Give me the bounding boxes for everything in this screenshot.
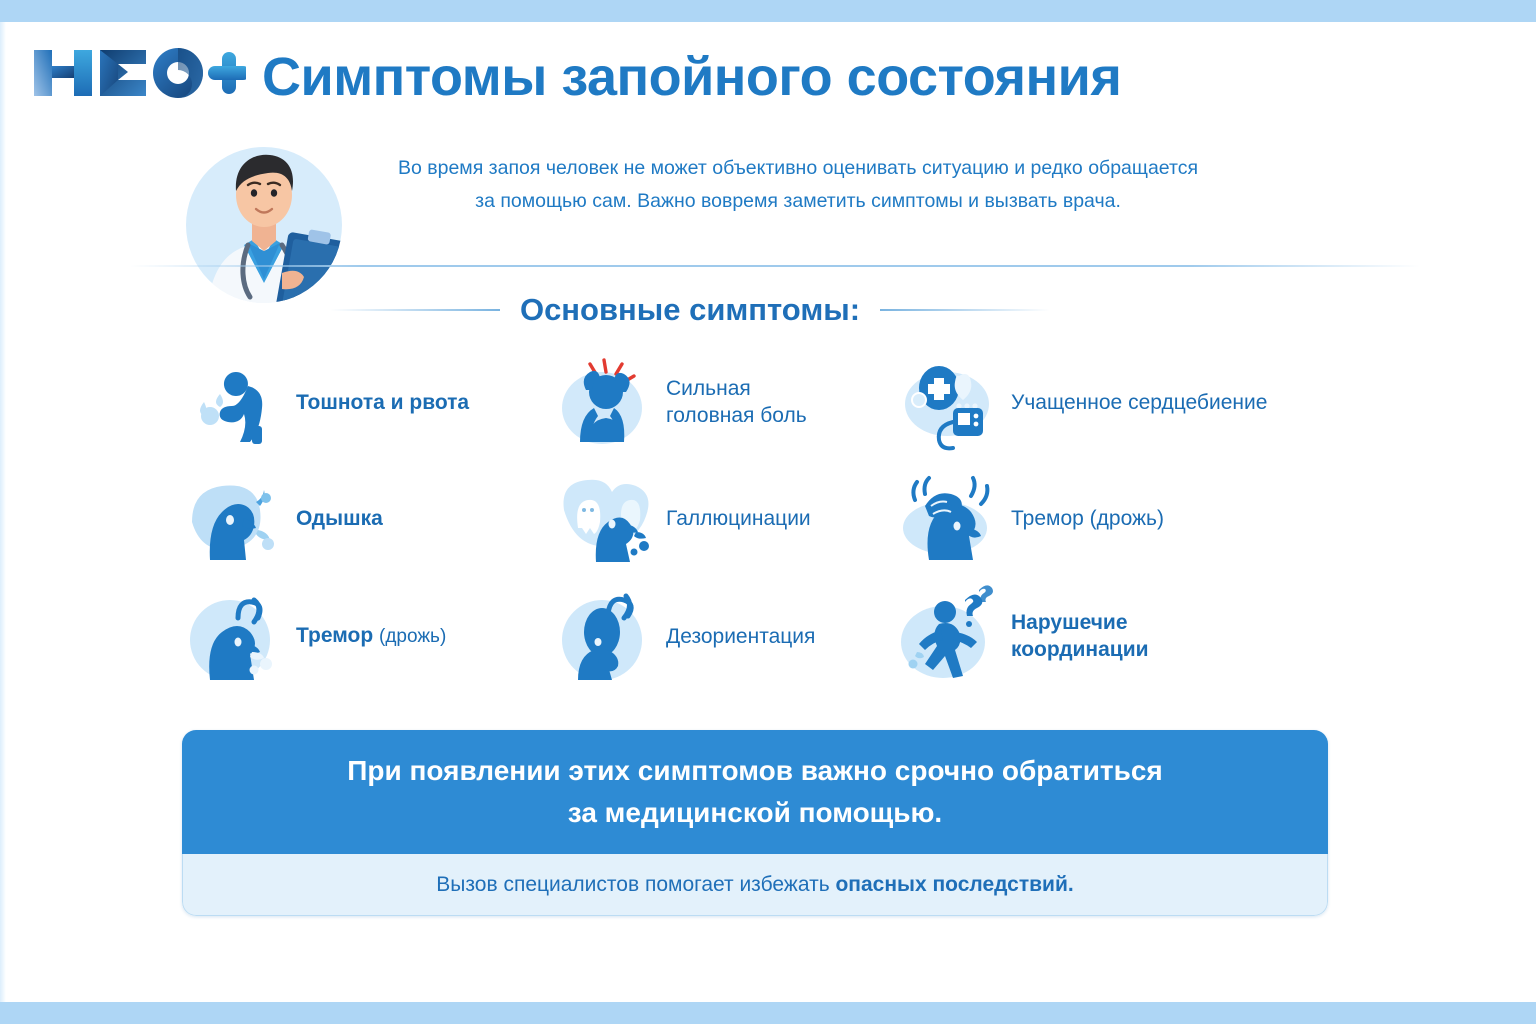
heading-rule-left bbox=[330, 309, 500, 311]
hallucination-ghost-icon bbox=[550, 466, 654, 570]
symptom-grid: Тошнота и рвота Сильная bbox=[180, 344, 1360, 696]
shortness-of-breath-icon bbox=[180, 466, 284, 570]
heading-label: Основные симптомы: bbox=[520, 292, 860, 328]
bottom-accent-bar bbox=[0, 1002, 1536, 1024]
symptom-label: Нарушечие координации bbox=[1011, 609, 1149, 663]
neo-plus-logo bbox=[30, 44, 246, 102]
left-edge-strip bbox=[0, 22, 6, 1002]
symptom-label: Тремор (дрожь) bbox=[296, 622, 446, 650]
call-to-action-banner: При появлении этих симптомов важно срочн… bbox=[182, 730, 1328, 916]
symptom-label-line-1: Нарушечие bbox=[1011, 609, 1149, 636]
symptom-item: Учащенное сердцебиение bbox=[895, 344, 1360, 460]
symptom-label-main: Тремор bbox=[296, 624, 379, 647]
sweating-tremor-icon bbox=[180, 584, 284, 688]
intro-paragraph: Во время запоя человек не может объектив… bbox=[318, 152, 1278, 218]
symptom-label-line-2: головная боль bbox=[666, 402, 807, 429]
banner-footer-bold: опасных последствий. bbox=[835, 873, 1073, 896]
symptom-label: Сильная головная боль bbox=[666, 375, 807, 429]
symptom-label: Тошнота и рвота bbox=[296, 389, 469, 416]
symptom-item: Тремор (дрожь) bbox=[895, 460, 1360, 576]
banner-line-1: При появлении этих симптомов важно срочн… bbox=[347, 755, 1163, 786]
banner-primary: При появлении этих симптомов важно срочн… bbox=[182, 730, 1328, 854]
symptom-item: Сильная головная боль bbox=[550, 344, 895, 460]
symptom-item: Нарушечие координации bbox=[895, 576, 1360, 696]
section-divider bbox=[130, 265, 1420, 267]
symptom-label-line-2: координации bbox=[1011, 636, 1149, 663]
symptom-label: Учащенное сердцебиение bbox=[1011, 389, 1267, 416]
symptom-label: Галлюцинации bbox=[666, 505, 811, 532]
symptom-label: Тремор (дрожь) bbox=[1011, 505, 1164, 532]
vomiting-icon bbox=[180, 350, 284, 454]
banner-footer: Вызов специалистов помогает избежать опа… bbox=[182, 854, 1328, 916]
symptom-item: Дезориентация bbox=[550, 576, 895, 696]
top-accent-bar bbox=[0, 0, 1536, 22]
page-title: Симптомы запойного состояния bbox=[262, 46, 1121, 108]
coordination-loss-icon bbox=[895, 584, 999, 688]
headache-icon bbox=[550, 350, 654, 454]
blood-pressure-monitor-icon bbox=[895, 350, 999, 454]
symptom-item: Тошнота и рвота bbox=[180, 344, 550, 460]
intro-line-2: за помощью сам. Важно вовремя заметить с… bbox=[318, 185, 1278, 218]
symptom-item: Тремор (дрожь) bbox=[180, 576, 550, 696]
banner-text: При появлении этих симптомов важно срочн… bbox=[347, 750, 1163, 834]
banner-line-2: за медицинской помощью. bbox=[568, 797, 942, 828]
head-tremor-icon bbox=[895, 466, 999, 570]
symptom-label-sub: (дрожь) bbox=[379, 626, 446, 647]
symptom-item: Галлюцинации bbox=[550, 460, 895, 576]
symptom-label-line-1: Сильная bbox=[666, 375, 807, 402]
symptom-label: Одышка bbox=[296, 505, 383, 532]
disorientation-icon bbox=[550, 584, 654, 688]
symptom-item: Одышка bbox=[180, 460, 550, 576]
symptom-label: Дезориентация bbox=[666, 623, 815, 650]
heading-rule-right bbox=[880, 309, 1050, 311]
banner-footer-text: Вызов специалистов помогает избежать опа… bbox=[436, 873, 1073, 897]
main-symptoms-heading: Основные симптомы: bbox=[330, 292, 1050, 328]
intro-line-1: Во время запоя человек не может объектив… bbox=[318, 152, 1278, 185]
banner-footer-regular: Вызов специалистов помогает избежать bbox=[436, 873, 835, 896]
header: Симптомы запойного состояния bbox=[0, 22, 1536, 122]
